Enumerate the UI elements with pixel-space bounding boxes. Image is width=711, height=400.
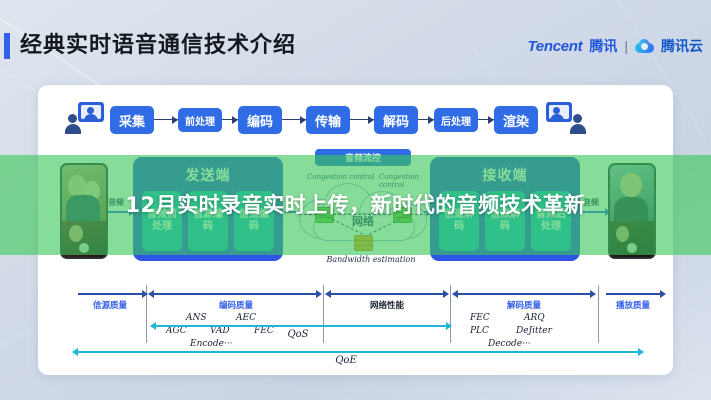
brand-divider: | [624, 38, 628, 54]
brand-tencent-cn: 腾讯 [589, 36, 617, 56]
metric-arrow-source [78, 293, 142, 295]
encode-caption: Encode··· [190, 339, 233, 349]
cloud-icon [635, 39, 654, 54]
brand-tencent-en: Tencent [528, 38, 583, 55]
encode-tech-ans: ANS [186, 313, 207, 323]
pipeline-stage-5[interactable]: 后处理 [434, 108, 478, 132]
pipeline-arrow [350, 116, 374, 124]
pipeline-row: 采集 前处理 编码 传输 解码 后处理 渲染 [38, 95, 673, 145]
encode-tech-aec: AEC [236, 313, 256, 323]
pipeline-stage-3[interactable]: 传输 [306, 106, 350, 134]
slide-header: 经典实时语音通信技术介绍 Tencent 腾讯 | 腾讯云 [0, 30, 711, 62]
metric-arrow-encode [154, 293, 316, 295]
pipeline-arrow [418, 116, 434, 124]
metric-label-0: 信源质量 [72, 299, 148, 311]
decode-tech-fec: FEC [470, 313, 490, 323]
metric-label-3: 解码质量 [484, 299, 564, 311]
headline-overlay: 12月实时录音实时上传，新时代的音频技术革新 [0, 155, 711, 255]
pipeline-arrow [222, 116, 238, 124]
bandwidth-estimation-label: Bandwidth estimation [301, 255, 441, 264]
decode-tech-arq: ARQ [524, 313, 545, 323]
pipeline-stage-0[interactable]: 采集 [110, 106, 154, 134]
user-at-monitor-icon [64, 100, 110, 140]
metric-arrow-network [331, 293, 443, 295]
metric-label-2: 网络性能 [346, 299, 428, 311]
qoe-label: QoE [306, 355, 386, 366]
pipeline-arrow [282, 116, 306, 124]
pipeline-stage-6[interactable]: 渲染 [494, 106, 538, 134]
encode-tech-vad: VAD [210, 326, 230, 336]
pipeline-stage-1[interactable]: 前处理 [178, 108, 222, 132]
metric-tick [450, 285, 451, 343]
decode-tech-dejitter: DeJitter [516, 326, 552, 336]
quality-metrics-row: 信源质量 编码质量 网络性能 解码质量 播放质量 ANS AEC AGC VAD… [38, 281, 673, 375]
brand-lockup: Tencent 腾讯 | 腾讯云 [528, 35, 704, 57]
qos-span [156, 325, 446, 327]
pipeline-stage-2[interactable]: 编码 [238, 106, 282, 134]
metric-label-1: 编码质量 [196, 299, 276, 311]
brand-tencent-cloud: 腾讯云 [661, 36, 703, 56]
pipeline-arrow [154, 116, 178, 124]
pipeline-stage-4[interactable]: 解码 [374, 106, 418, 134]
overlay-headline: 12月实时录音实时上传，新时代的音频技术革新 [6, 190, 706, 220]
metric-tick [598, 285, 599, 343]
qoe-span [78, 351, 638, 353]
pipeline-arrow [478, 116, 494, 124]
monitor-with-user-icon [544, 100, 590, 140]
decode-tech-plc: PLC [470, 326, 489, 336]
decode-caption: Decode··· [488, 339, 531, 349]
qos-label: QoS [258, 329, 338, 340]
metric-arrow-playback [606, 293, 660, 295]
screenshot-root: 经典实时语音通信技术介绍 Tencent 腾讯 | 腾讯云 [0, 0, 711, 400]
title-accent-bar [4, 33, 10, 59]
metric-arrow-decode [458, 293, 590, 295]
metric-label-4: 播放质量 [594, 299, 672, 311]
encode-tech-agc: AGC [166, 326, 187, 336]
page-title: 经典实时语音通信技术介绍 [20, 30, 296, 62]
